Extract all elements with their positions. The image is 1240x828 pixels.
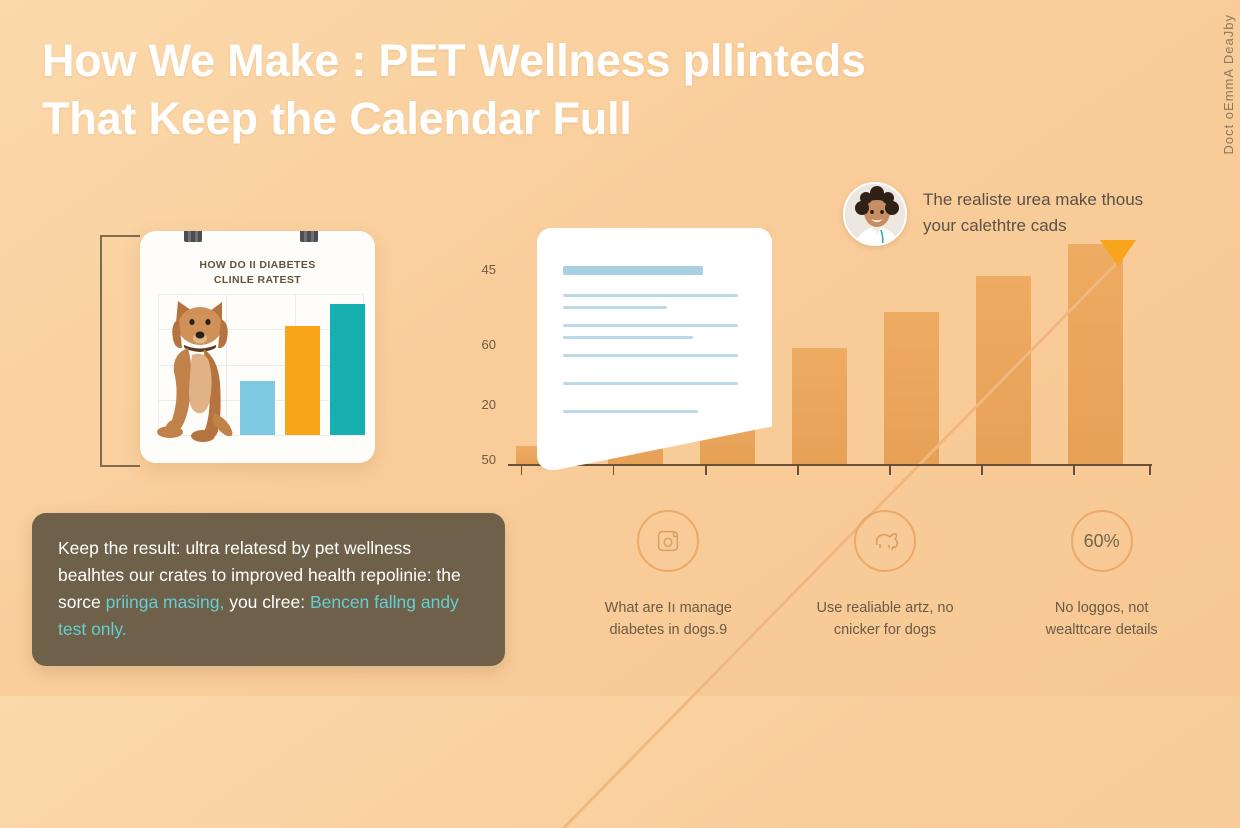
binder-clip-icon <box>300 231 318 249</box>
feature-3-line1: No loggos, not <box>993 598 1210 620</box>
calendar-card-heading: HOW DO II DIABETES CLINLE RATEST <box>140 258 375 288</box>
y-axis-label-2: 20 <box>470 397 496 412</box>
vertical-side-text: Doct oEmmA DeaJby <box>1221 14 1236 155</box>
bracket-decoration <box>100 235 140 467</box>
feature-3-value: 60% <box>1084 531 1120 552</box>
quote-part2: you clree: <box>224 592 310 612</box>
feature-list: What are Iı manage diabetes in dogs.9 Us… <box>560 510 1210 642</box>
feature-text-1: What are Iı manage diabetes in dogs.9 <box>560 598 777 642</box>
calendar-bar-2 <box>285 326 320 435</box>
dog-outline-icon <box>854 510 916 572</box>
calendar-bar-3 <box>330 304 365 435</box>
binder-clip-icon <box>184 231 202 249</box>
y-axis-label-3: 50 <box>470 452 496 467</box>
percent-circle-icon: 60% <box>1071 510 1133 572</box>
page-title-line2: That Keep the Calendar Full <box>42 90 1042 148</box>
feature-1-line2: diabetes in dogs.9 <box>560 620 777 642</box>
feature-text-3: No loggos, not wealttcare details <box>993 598 1210 642</box>
calendar-heading-line1: HOW DO II DIABETES <box>140 258 375 273</box>
calendar-card: HOW DO II DIABETES CLINLE RATEST <box>140 231 375 463</box>
feature-item-1[interactable]: What are Iı manage diabetes in dogs.9 <box>560 510 777 642</box>
dog-illustration <box>148 293 240 443</box>
calendar-heading-line2: CLINLE RATEST <box>140 273 375 288</box>
feature-2-line2: cnicker for dogs <box>777 620 994 642</box>
doctor-caption-text: The realiste urea make thous your caleth… <box>923 182 1143 238</box>
calendar-bar-chart <box>158 294 363 435</box>
page-title: How We Make : PET Wellness pllinteds Tha… <box>42 32 1042 147</box>
doctor-caption: The realiste urea make thous your caleth… <box>843 182 1143 246</box>
feature-1-line1: What are Iı manage <box>560 598 777 620</box>
bar-5 <box>884 312 939 464</box>
page-title-line1: How We Make : PET Wellness pllinteds <box>42 35 866 86</box>
bar-6 <box>976 276 1031 464</box>
shield-document-icon <box>637 510 699 572</box>
calendar-bar-1 <box>240 381 275 435</box>
quote-highlight1: priinga masing, <box>106 592 225 612</box>
doctor-caption-line1: The realiste urea make thous <box>923 187 1143 213</box>
x-axis-line <box>508 464 1152 466</box>
feature-3-line2: wealttcare details <box>993 620 1210 642</box>
feature-item-2[interactable]: Use realiable artz, no cnicker for dogs <box>777 510 994 642</box>
feature-text-2: Use realiable artz, no cnicker for dogs <box>777 598 994 642</box>
bar-4 <box>792 348 847 464</box>
y-axis-label-1: 60 <box>470 337 496 352</box>
feature-item-3[interactable]: 60% No loggos, not wealttcare details <box>993 510 1210 642</box>
y-axis-label-0: 45 <box>470 262 496 277</box>
doctor-avatar <box>843 182 907 246</box>
quote-box: Keep the result: ultra relatesd by pet w… <box>32 513 505 666</box>
feature-2-line1: Use realiable artz, no <box>777 598 994 620</box>
doctor-caption-line2: your calethtre cads <box>923 213 1143 239</box>
bar-7 <box>1068 244 1123 464</box>
